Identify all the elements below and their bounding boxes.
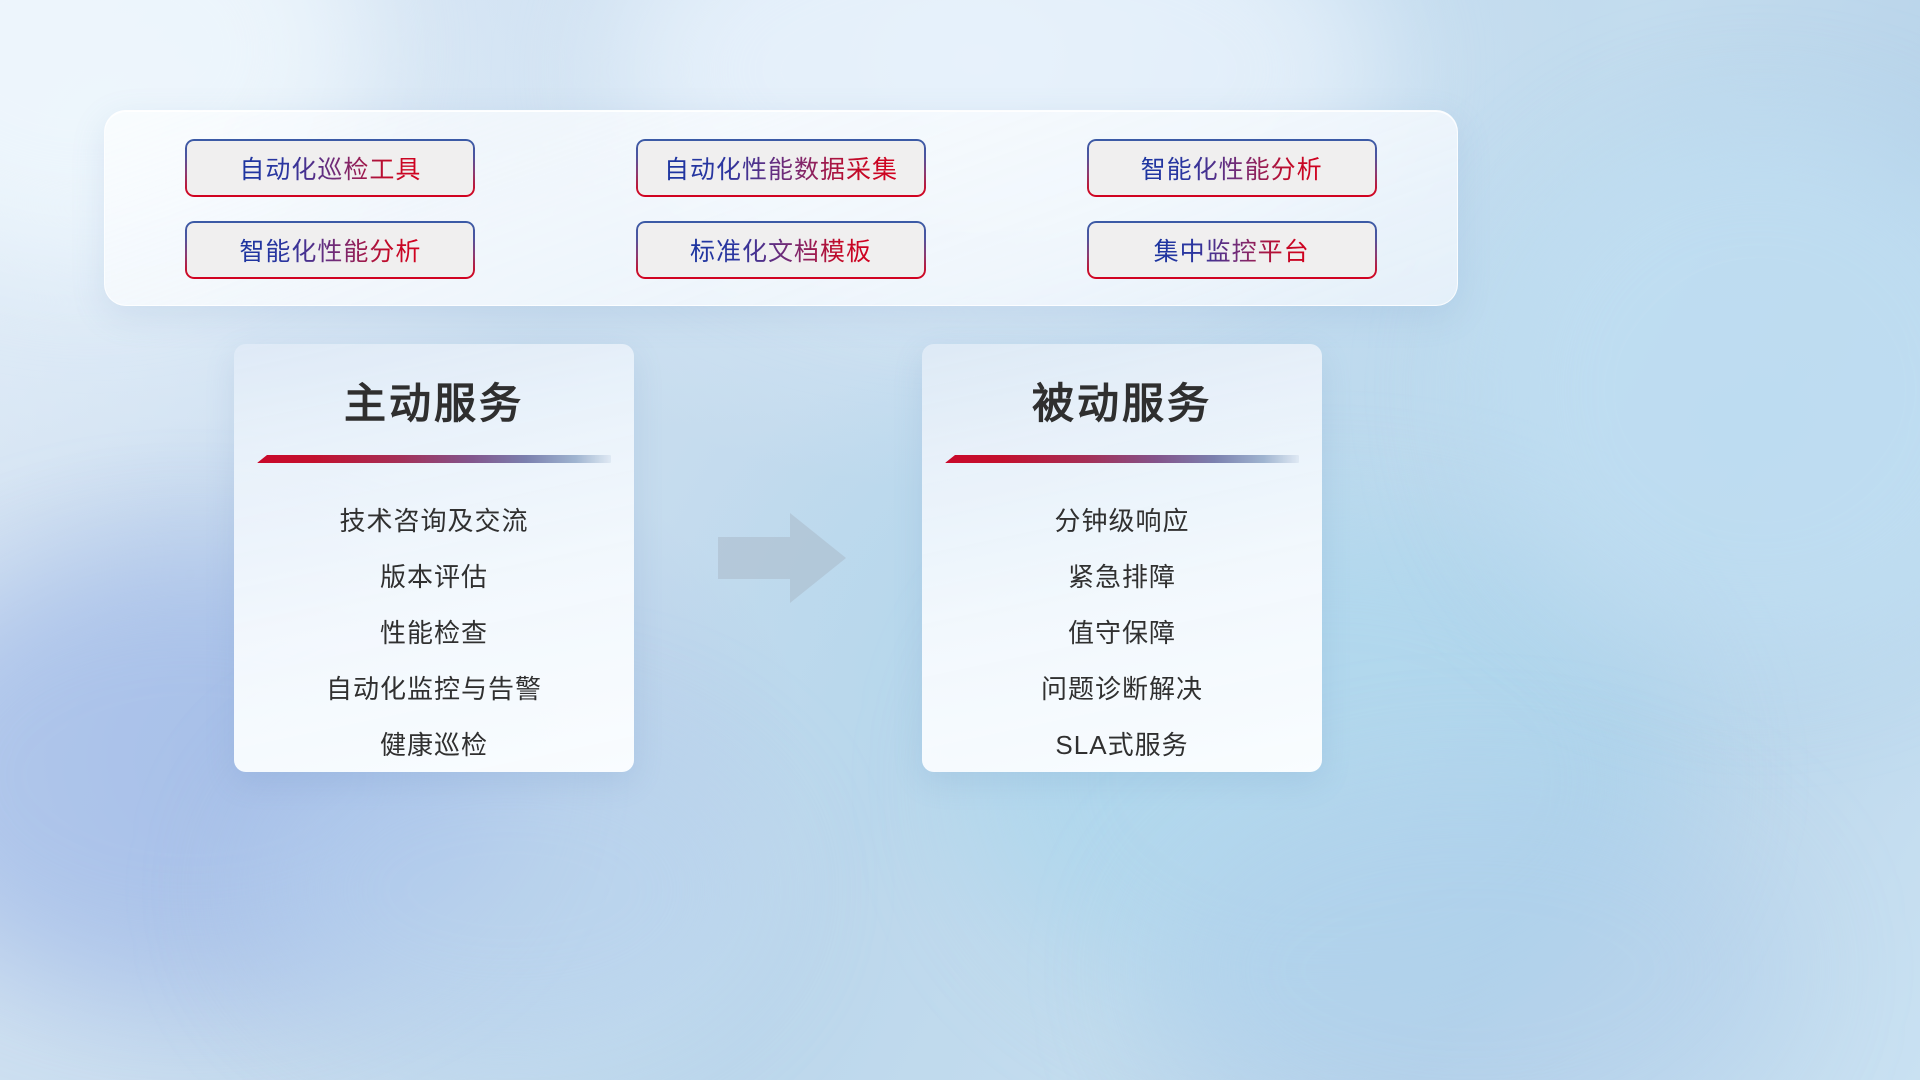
capability-tag-intelligent-performance-analysis-bottom[interactable]: 智能化性能分析 [185,221,475,279]
background-blob [1150,780,1790,1080]
capability-tag-label: 标准化文档模板 [690,232,872,268]
capability-tag-label: 智能化性能分析 [239,232,421,268]
capability-tag-grid: 自动化巡检工具 自动化性能数据采集 智能化性能分析 智能化性能分析 标准化文档模… [105,111,1457,305]
list-item[interactable]: 分钟级响应 [922,493,1322,549]
capability-tag-label: 智能化性能分析 [1141,150,1323,186]
list-item[interactable]: 版本评估 [234,549,634,605]
service-card-passive[interactable]: 被动服务 分钟级响应 紧急排障 值守保障 问题诊断解决 SLA式服务 [922,344,1322,772]
service-card-list: 分钟级响应 紧急排障 值守保障 问题诊断解决 SLA式服务 [922,463,1322,772]
capability-tag-automation-performance-data-collection[interactable]: 自动化性能数据采集 [636,139,926,197]
capability-tag-centralized-monitoring-platform[interactable]: 集中监控平台 [1087,221,1377,279]
capability-tag-label: 自动化巡检工具 [239,150,421,186]
background-blob [1480,120,1920,660]
capability-tag-label: 集中监控平台 [1154,232,1310,268]
capability-panel: 自动化巡检工具 自动化性能数据采集 智能化性能分析 智能化性能分析 标准化文档模… [104,110,1458,306]
slide-canvas: 自动化巡检工具 自动化性能数据采集 智能化性能分析 智能化性能分析 标准化文档模… [0,0,1920,1080]
title-divider [257,455,611,463]
service-card-list: 技术咨询及交流 版本评估 性能检查 自动化监控与告警 健康巡检 [234,463,634,772]
list-item[interactable]: 健康巡检 [234,717,634,772]
list-item[interactable]: 紧急排障 [922,549,1322,605]
capability-tag-automation-inspection-tool[interactable]: 自动化巡检工具 [185,139,475,197]
capability-tag-label: 自动化性能数据采集 [664,150,898,186]
capability-tag-intelligent-performance-analysis-top[interactable]: 智能化性能分析 [1087,139,1377,197]
right-arrow-icon [716,507,848,609]
list-item[interactable]: 性能检查 [234,605,634,661]
list-item[interactable]: 技术咨询及交流 [234,493,634,549]
title-divider [945,455,1299,463]
service-card-title: 被动服务 [922,344,1322,431]
list-item[interactable]: SLA式服务 [922,717,1322,772]
list-item[interactable]: 自动化监控与告警 [234,661,634,717]
list-item[interactable]: 值守保障 [922,605,1322,661]
list-item[interactable]: 问题诊断解决 [922,661,1322,717]
service-card-title: 主动服务 [234,344,634,431]
capability-tag-standardized-document-template[interactable]: 标准化文档模板 [636,221,926,279]
service-card-active[interactable]: 主动服务 技术咨询及交流 版本评估 性能检查 自动化监控与告警 健康巡检 [234,344,634,772]
